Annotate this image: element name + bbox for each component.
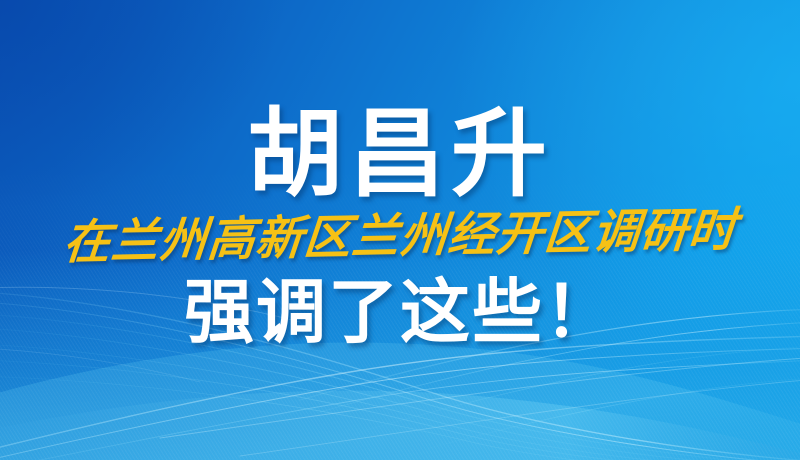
tagline-text: 强调了这些！ — [184, 276, 616, 350]
banner-text-block: 胡昌升 在兰州高新区兰州经开区调研时 强调了这些！ — [0, 0, 800, 460]
headline-text: 胡昌升 — [247, 104, 553, 205]
subheadline-text: 在兰州高新区兰州经开区调研时 — [61, 204, 739, 269]
news-banner: 胡昌升 在兰州高新区兰州经开区调研时 强调了这些！ — [0, 0, 800, 460]
